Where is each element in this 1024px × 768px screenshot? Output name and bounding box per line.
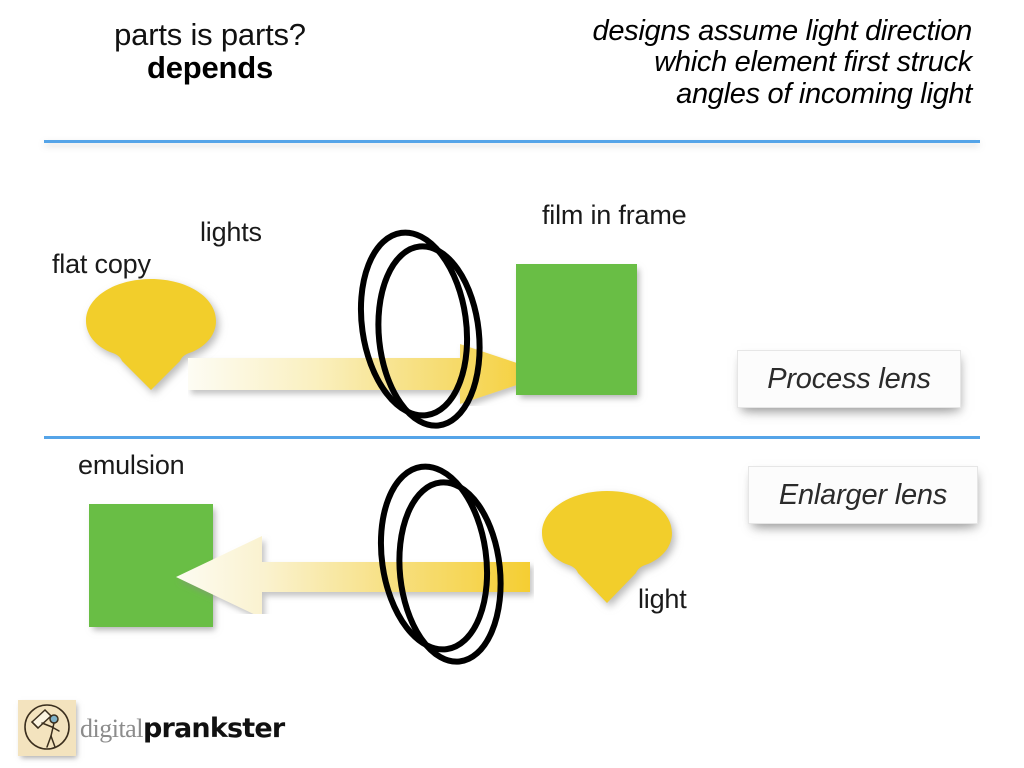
label-emulsion: emulsion — [78, 450, 184, 481]
brand-logo[interactable]: digital prankster — [18, 700, 284, 756]
film-frame-element — [516, 264, 637, 395]
subtitle-block: designs assume light direction which ele… — [593, 16, 972, 110]
light-bulb-shape-bottom — [538, 489, 676, 607]
prankster-figure-icon — [18, 700, 76, 756]
subtitle-line-2: which element first struck — [593, 47, 972, 78]
label-lights: lights — [200, 217, 262, 248]
header-divider-rule — [44, 140, 980, 143]
slide-canvas: parts is parts? depends designs assume l… — [0, 0, 1024, 768]
subtitle-line-1: designs assume light direction — [593, 16, 972, 47]
label-film-in-frame: film in frame — [542, 200, 686, 231]
panel-divider-rule — [44, 436, 980, 439]
label-flat-copy: flat copy — [52, 249, 151, 280]
title-line-emphasis: depends — [45, 51, 375, 84]
enlarger-lens-shape — [368, 456, 518, 676]
process-lens-shape — [344, 220, 494, 440]
page-title: parts is parts? depends — [45, 18, 375, 85]
title-line-primary: parts is parts? — [45, 18, 375, 51]
logo-word-prankster: prankster — [143, 713, 284, 744]
logo-wordmark: digital prankster — [80, 713, 284, 744]
callout-enlarger-lens[interactable]: Enlarger lens — [748, 466, 978, 524]
subtitle-line-3: angles of incoming light — [593, 79, 972, 110]
callout-process-lens[interactable]: Process lens — [737, 350, 961, 408]
logo-word-digital: digital — [80, 714, 143, 744]
